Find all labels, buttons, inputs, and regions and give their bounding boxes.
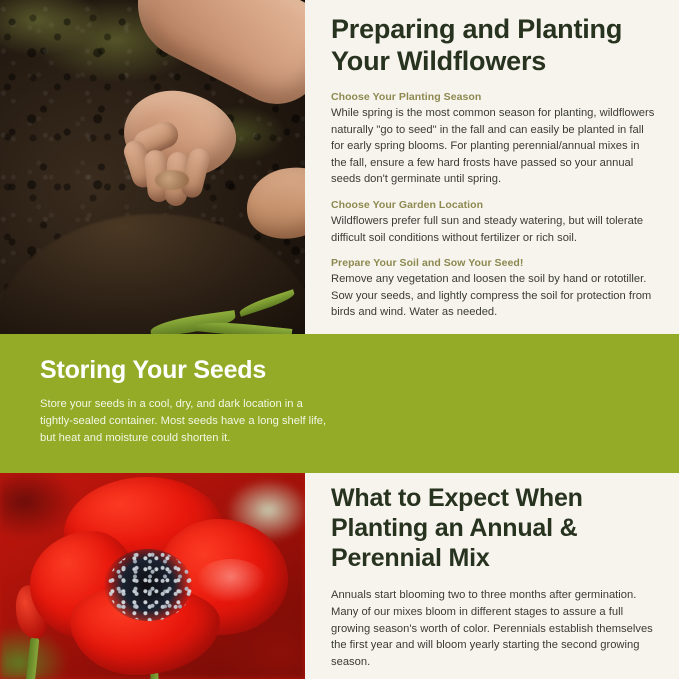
what-to-expect-text-column: What to Expect When Planting an Annual &…: [305, 473, 679, 679]
subheading-garden-location: Choose Your Garden Location: [331, 199, 657, 211]
hands-planting-seeds-in-soil-photo: [0, 0, 305, 334]
petal-highlight: [196, 559, 266, 603]
block-prepare-soil: Prepare Your Soil and Sow Your Seed! Rem…: [331, 257, 657, 321]
paragraph-what-to-expect: Annuals start blooming two to three mont…: [331, 587, 657, 671]
seeds-in-hand: [155, 170, 189, 190]
infographic-page: Preparing and Planting Your Wildflowers …: [0, 0, 679, 679]
paragraph-planting-season: While spring is the most common season f…: [331, 105, 657, 188]
red-poppy-flower-photo: [0, 473, 305, 679]
section-what-to-expect: What to Expect When Planting an Annual &…: [0, 473, 679, 679]
paragraph-prepare-soil: Remove any vegetation and loosen the soi…: [331, 271, 657, 321]
subheading-planting-season: Choose Your Planting Season: [331, 91, 657, 103]
paragraph-garden-location: Wildflowers prefer full sun and steady w…: [331, 213, 657, 246]
block-garden-location: Choose Your Garden Location Wildflowers …: [331, 199, 657, 246]
preparing-text-column: Preparing and Planting Your Wildflowers …: [305, 0, 679, 334]
section-heading-preparing: Preparing and Planting Your Wildflowers: [331, 14, 657, 77]
section-heading-what-to-expect: What to Expect When Planting an Annual &…: [331, 483, 657, 573]
subheading-prepare-soil: Prepare Your Soil and Sow Your Seed!: [331, 257, 657, 269]
section-preparing-and-planting: Preparing and Planting Your Wildflowers …: [0, 0, 679, 334]
section-heading-storing: Storing Your Seeds: [40, 356, 266, 385]
poppy-stamens: [108, 551, 192, 621]
block-planting-season: Choose Your Planting Season While spring…: [331, 91, 657, 188]
paragraph-storing: Store your seeds in a cool, dry, and dar…: [40, 396, 330, 446]
